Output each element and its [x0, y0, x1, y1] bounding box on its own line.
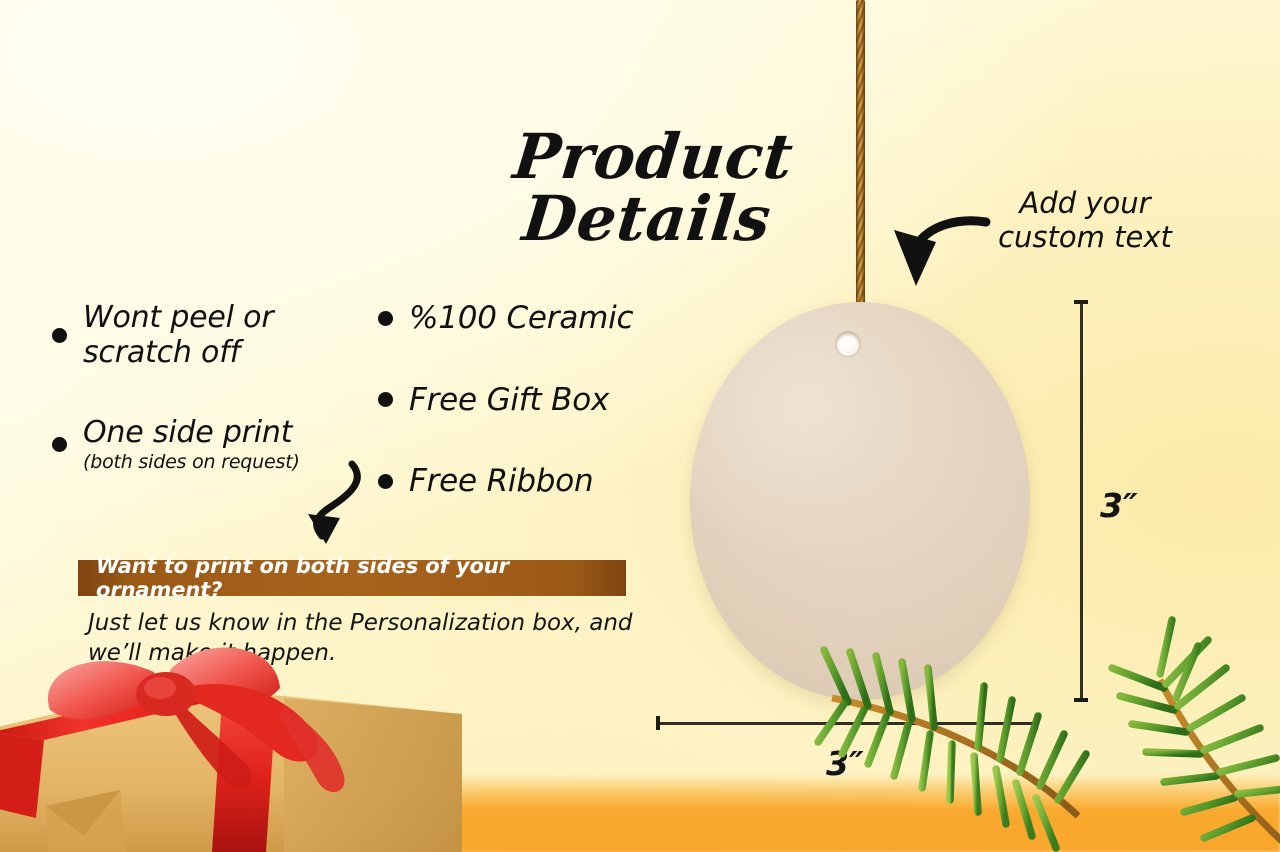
dimension-cap-left	[656, 716, 660, 730]
bullet-dot-icon	[378, 311, 393, 326]
ornament-hanging-cord	[856, 0, 865, 344]
custom-text-annotation: Add your custom text	[985, 186, 1185, 254]
list-item-label: Free Gift Box	[409, 382, 609, 419]
banner-label: Want to print on both sides of your orna…	[78, 554, 626, 602]
list-item-main: One side print	[83, 415, 292, 450]
bullet-dot-icon	[52, 437, 67, 452]
list-item: Free Gift Box	[378, 382, 658, 419]
list-item: Free Ribbon	[378, 463, 658, 500]
product-details-infographic: Product Details Wont peel or scratch off…	[0, 0, 1280, 852]
gift-box-image	[0, 636, 462, 852]
page-title: Product Details	[433, 126, 866, 250]
list-item-label: One side print (both sides on request)	[83, 415, 300, 474]
bullet-dot-icon	[378, 392, 393, 407]
list-item: %100 Ceramic	[378, 300, 658, 337]
bullet-dot-icon	[52, 328, 67, 343]
curved-arrow-down-icon	[288, 458, 398, 558]
feature-list-right: %100 Ceramic Free Gift Box Free Ribbon	[378, 300, 658, 545]
list-item-subnote: (both sides on request)	[83, 452, 300, 474]
list-item: Wont peel or scratch off	[52, 300, 372, 371]
dimension-label-height: 3″	[1100, 486, 1138, 525]
annotation-line-1: Add your	[985, 186, 1185, 220]
pine-branch-image	[842, 606, 1280, 852]
list-item-label: Wont peel or scratch off	[83, 300, 372, 371]
dimension-cap-top	[1074, 300, 1088, 304]
annotation-line-2: custom text	[985, 220, 1185, 254]
curved-arrow-down-left-icon	[886, 212, 996, 304]
ornament-string-hole	[836, 332, 860, 356]
both-sides-banner: Want to print on both sides of your orna…	[78, 560, 626, 596]
list-item-label: Free Ribbon	[409, 463, 594, 500]
list-item-label: %100 Ceramic	[409, 300, 633, 337]
